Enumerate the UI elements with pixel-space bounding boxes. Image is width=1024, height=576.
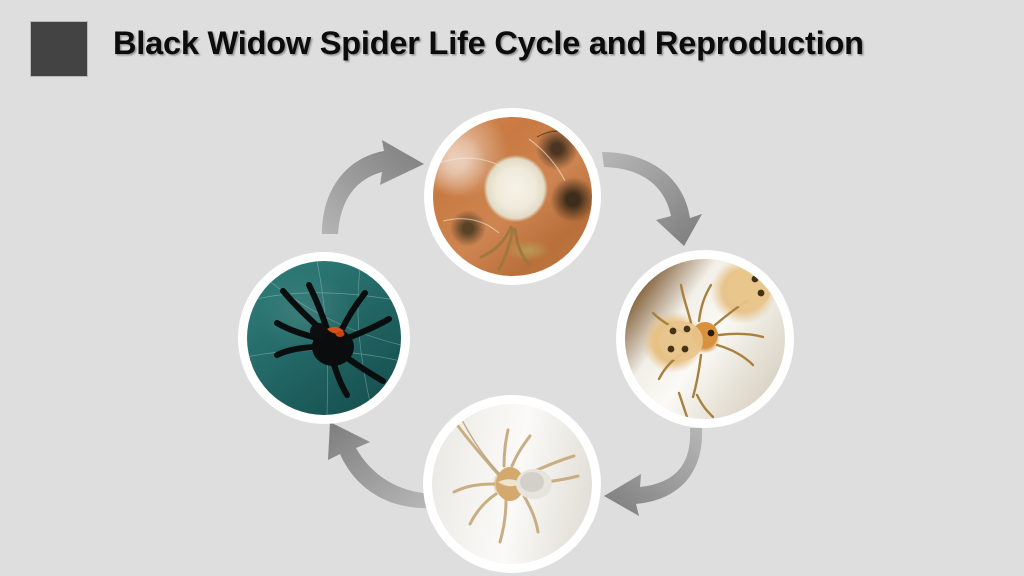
arrow-juvenile-to-adult <box>306 414 436 518</box>
cycle-node-juvenile[interactable] <box>423 395 601 573</box>
cycle-node-spiderlings[interactable] <box>616 250 794 428</box>
page-title: Black Widow Spider Life Cycle and Reprod… <box>113 23 983 64</box>
cycle-node-adult-black-widow[interactable] <box>238 252 410 424</box>
adult-black-widow-photo <box>247 261 401 415</box>
slide-canvas: Black Widow Spider Life Cycle and Reprod… <box>0 0 1024 576</box>
title-bar: Black Widow Spider Life Cycle and Reprod… <box>0 0 1024 96</box>
juvenile-spider-photo <box>432 404 592 564</box>
spiderlings-photo <box>625 259 785 419</box>
egg-sac-photo <box>433 117 592 276</box>
arrow-adult-to-egg-sac <box>312 138 432 238</box>
cycle-node-egg-sac[interactable] <box>424 108 601 285</box>
arrow-spiderlings-to-juvenile <box>600 424 726 524</box>
accent-square-icon <box>30 21 88 77</box>
arrow-egg-sac-to-spiderlings <box>598 142 718 250</box>
